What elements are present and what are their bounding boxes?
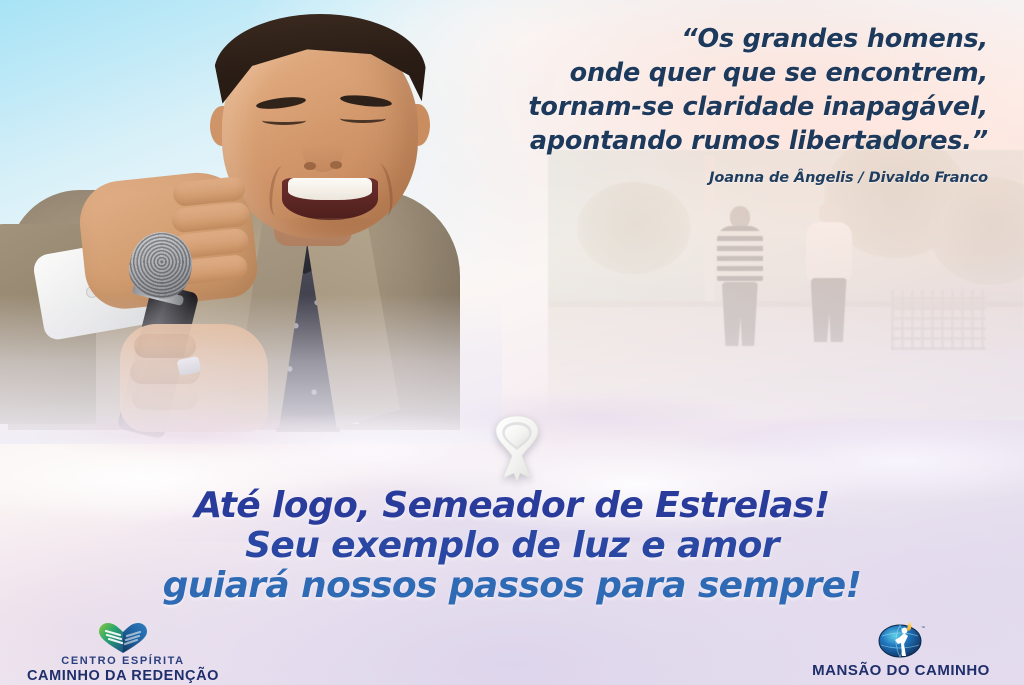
bg-photo-person-light: [796, 202, 862, 360]
headline-line-1: Até logo, Semeador de Estrelas!: [0, 486, 1024, 526]
logo-mansao-do-caminho-label: MANSÃO DO CAMINHO: [786, 662, 1016, 679]
quote-attribution: Joanna de Ângelis / Divaldo Franco: [408, 170, 988, 186]
bg-photo-person-legs: [811, 278, 847, 342]
logo-centro-espirita[interactable]: CENTRO ESPÍRITA CAMINHO DA REDENÇÃO: [8, 622, 238, 684]
memorial-poster: “Os grandes homens, onde quer que se enc…: [0, 0, 1024, 685]
subject-nostril-left: [304, 162, 316, 170]
subject-teeth: [288, 178, 372, 200]
logo-centro-espirita-line1: CENTRO ESPÍRITA: [8, 655, 238, 667]
svg-text:™: ™: [921, 625, 925, 630]
bg-photo-person-striped: [710, 206, 770, 356]
bg-photo-person-torso: [717, 226, 763, 284]
logo-mansao-do-caminho[interactable]: ™ MANSÃO DO CAMINHO: [786, 620, 1016, 679]
quote-line-2: onde quer que se encontrem,: [408, 56, 988, 90]
subject-chin-shadow: [282, 218, 378, 238]
white-ribbon-icon: [481, 412, 553, 490]
quote-line-1: “Os grandes homens,: [408, 22, 988, 56]
subject-mouth: [282, 178, 378, 220]
bg-photo-person-head: [819, 202, 839, 224]
quote-block: “Os grandes homens, onde quer que se enc…: [408, 22, 988, 186]
bg-photo-fence: [891, 290, 986, 349]
subject-eye-left: [262, 116, 306, 125]
bg-photo-person-head: [730, 206, 750, 228]
headline-line-3: guiará nossos passos para sempre!: [0, 566, 1024, 606]
quote-line-4: apontando rumos libertadores.”: [408, 124, 988, 158]
subject-eye-right: [340, 114, 386, 123]
bg-photo-person-torso: [806, 222, 852, 280]
bg-photo-tree: [577, 182, 691, 274]
subject-nostril-right: [330, 161, 342, 169]
globe-figure-flame-icon: ™: [876, 620, 926, 660]
logo-centro-espirita-line2: CAMINHO DA REDENÇÃO: [8, 668, 238, 684]
headline-block: Até logo, Semeador de Estrelas! Seu exem…: [0, 486, 1024, 606]
hands-heart-icon: [96, 622, 150, 654]
headline-line-2: Seu exemplo de luz e amor: [0, 526, 1024, 566]
bg-photo-person-legs: [722, 282, 758, 346]
quote-line-3: tornam-se claridade inapagável,: [408, 90, 988, 124]
